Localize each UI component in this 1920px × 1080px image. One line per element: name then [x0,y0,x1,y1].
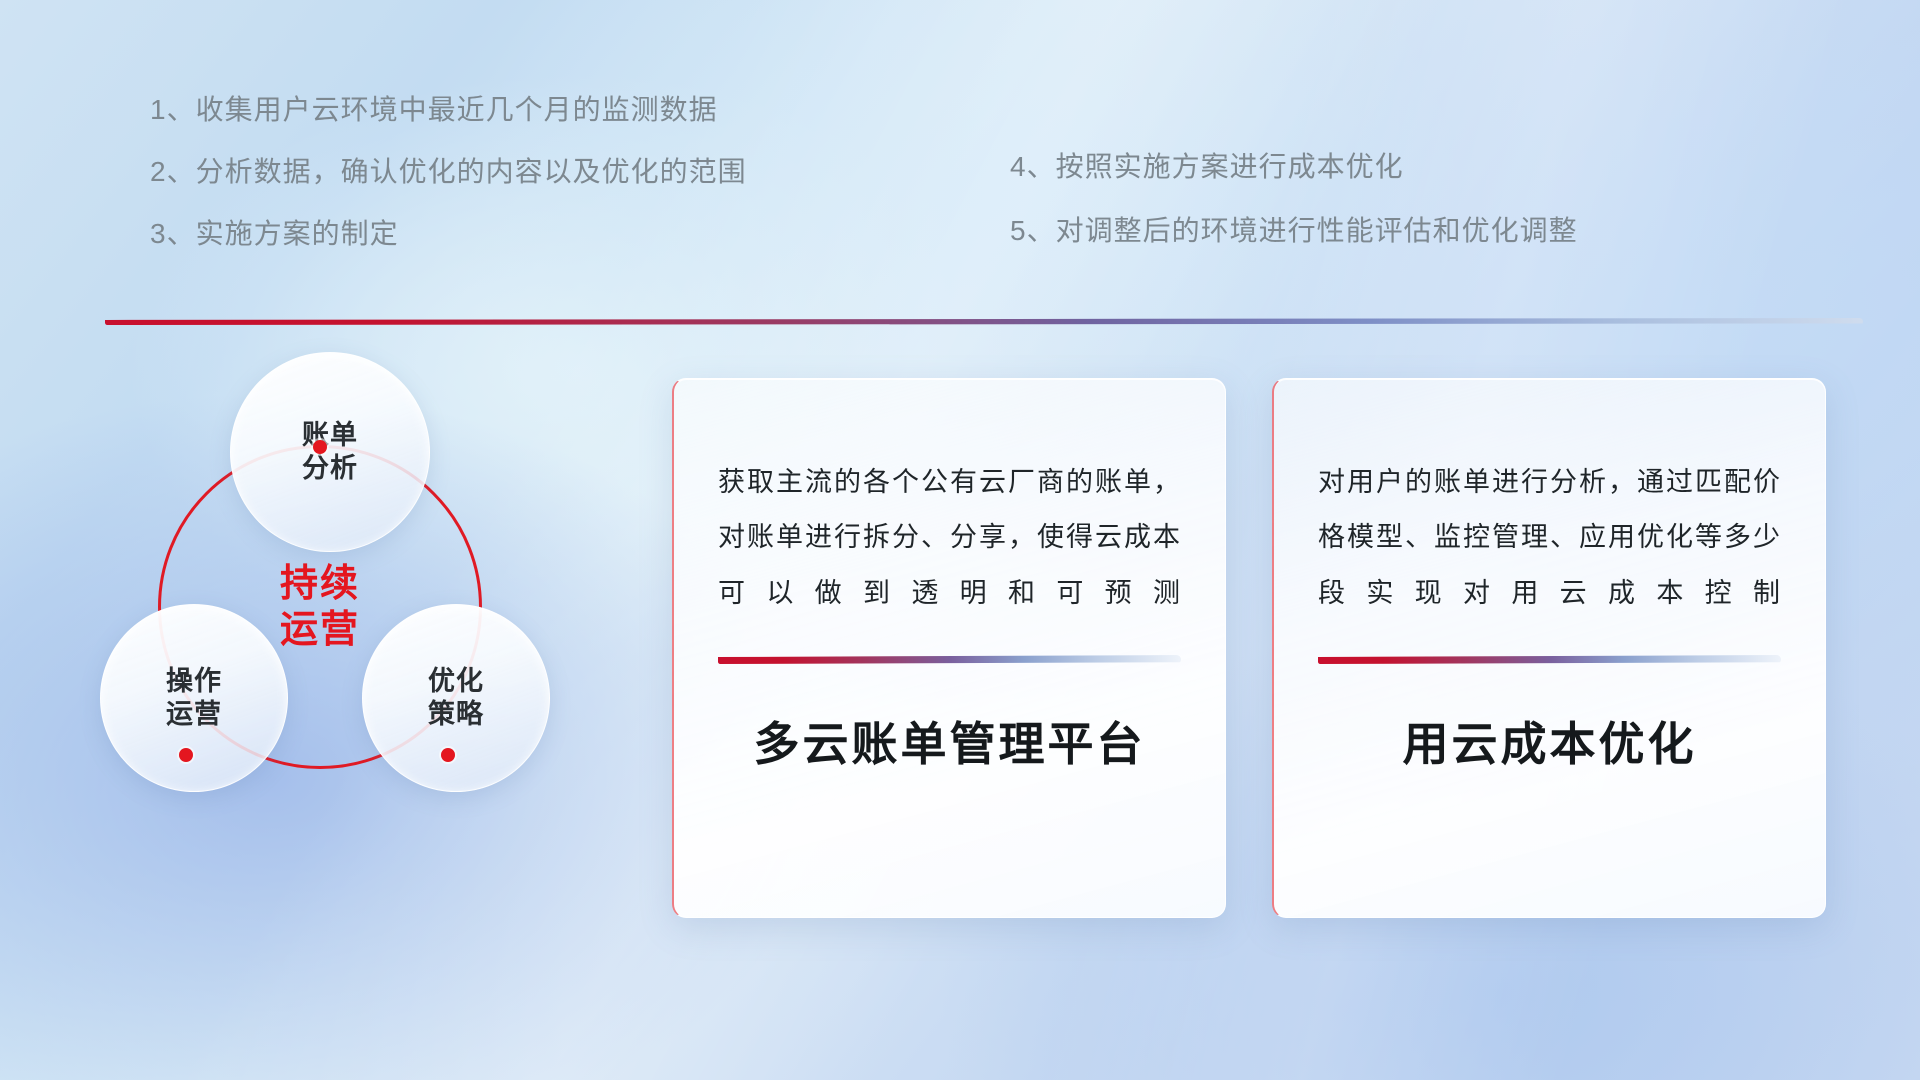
continuous-operation-diagram: 账单分析 操作运营 优化策略 持续运营 [100,352,630,952]
header-divider [105,318,1863,325]
step-item-2: 2、分析数据，确认优化的内容以及优化的范围 [150,158,747,186]
slide-canvas: 1、收集用户云环境中最近几个月的监测数据 2、分析数据，确认优化的内容以及优化的… [0,0,1920,1080]
card-body-text: 获取主流的各个公有云厂商的账单，对账单进行拆分、分享，使得云成本可以做到透明和可… [718,455,1181,621]
diagram-center-label-wrap: 持续运营 [158,445,482,769]
connector-dot-right-icon [441,748,455,762]
card-body-text: 对用户的账单进行分析，通过匹配价格模型、监控管理、应用优化等多少段实现对用云成本… [1318,455,1781,621]
step-item-1: 1、收集用户云环境中最近几个月的监测数据 [150,96,747,124]
connector-dot-left-icon [179,748,193,762]
card-title: 多云账单管理平台 [718,708,1181,774]
step-item-4: 4、按照实施方案进行成本优化 [1010,153,1578,181]
step-item-5: 5、对调整后的环境进行性能评估和优化调整 [1010,217,1578,245]
card-divider [1318,655,1781,664]
connector-dot-top-icon [313,440,327,454]
steps-list-left: 1、收集用户云环境中最近几个月的监测数据 2、分析数据，确认优化的内容以及优化的… [150,96,747,282]
info-card-multi-cloud-bill-platform[interactable]: 获取主流的各个公有云厂商的账单，对账单进行拆分、分享，使得云成本可以做到透明和可… [672,378,1226,918]
card-divider [718,655,1181,664]
card-title: 用云成本优化 [1318,708,1781,774]
steps-list-right: 4、按照实施方案进行成本优化 5、对调整后的环境进行性能评估和优化调整 [1010,153,1578,281]
info-card-cloud-cost-optimization[interactable]: 对用户的账单进行分析，通过匹配价格模型、监控管理、应用优化等多少段实现对用云成本… [1272,378,1826,918]
diagram-center-label: 持续运营 [280,561,360,654]
step-item-3: 3、实施方案的制定 [150,220,747,248]
